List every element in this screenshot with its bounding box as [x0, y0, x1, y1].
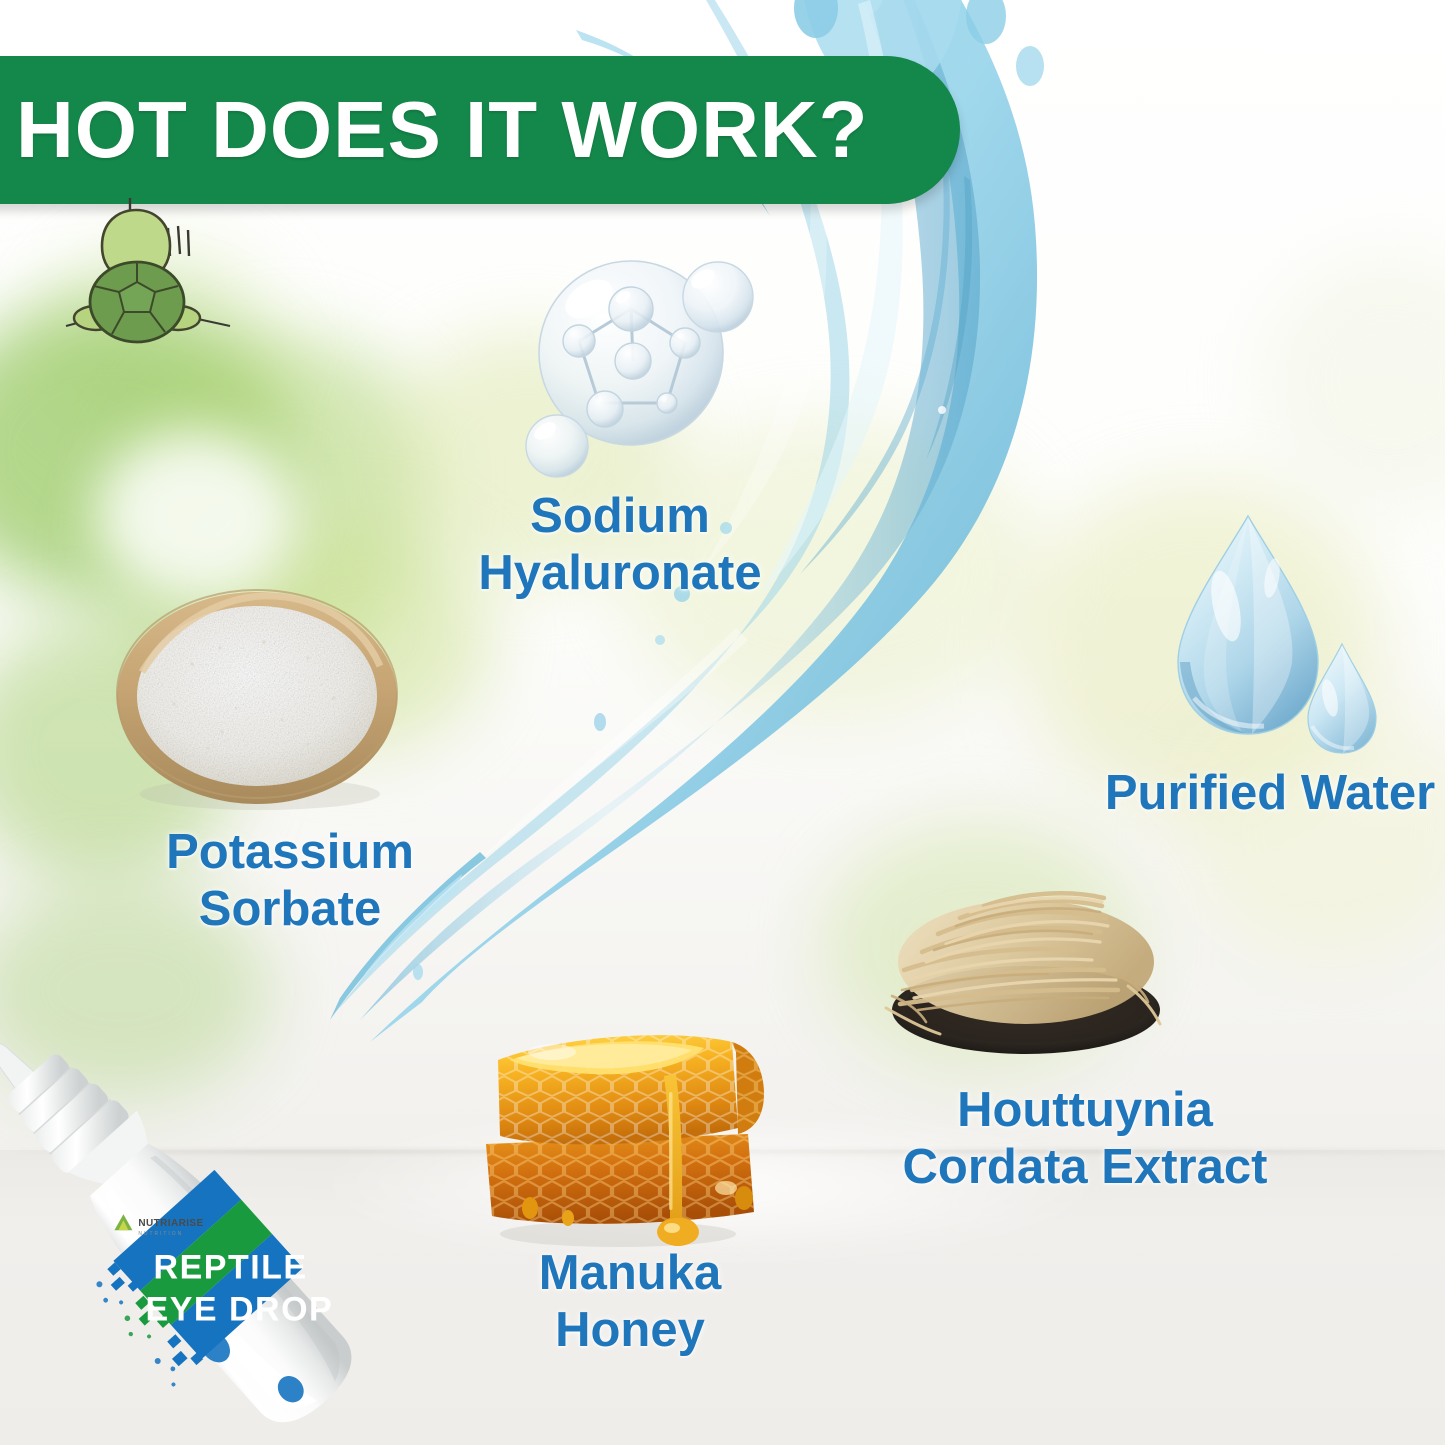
dried-roots-plate-icon: [878, 858, 1173, 1063]
ingredient-label-sodium-hyaluronate: Sodium Hyaluronate: [430, 488, 810, 602]
ingredient-label-houttuynia-cordata-extract: Houttuynia Cordata Extract: [885, 1082, 1285, 1196]
water-droplet-icon: [1160, 512, 1390, 762]
ingredient-label-potassium-sorbate: Potassium Sorbate: [95, 824, 485, 938]
infographic-canvas: HOT DOES IT WORK?: [0, 0, 1445, 1445]
product-bottle: REPTILE EYE DROP NUTRIARISE N U T R I T …: [0, 960, 370, 1445]
section-banner: HOT DOES IT WORK?: [0, 56, 960, 204]
cartoon-turtle-icon: [58, 198, 238, 358]
bottle-brand-name: NUTRIARISE: [138, 1218, 203, 1229]
bokeh-highlight: [95, 430, 295, 600]
ingredient-label-manuka-honey: Manuka Honey: [500, 1245, 760, 1359]
ingredient-label-purified-water: Purified Water: [1085, 765, 1445, 822]
page-title: HOT DOES IT WORK?: [0, 84, 869, 176]
bottle-label-line2: EYE DROP: [146, 1291, 334, 1329]
svg-text:N U T R I T I O N: N U T R I T I O N: [138, 1231, 181, 1237]
molecule-bubble-icon: [505, 243, 775, 488]
powder-bowl-icon: [112, 586, 402, 814]
honeycomb-icon: [468, 1012, 773, 1252]
bottle-label-line1: REPTILE: [154, 1249, 308, 1287]
